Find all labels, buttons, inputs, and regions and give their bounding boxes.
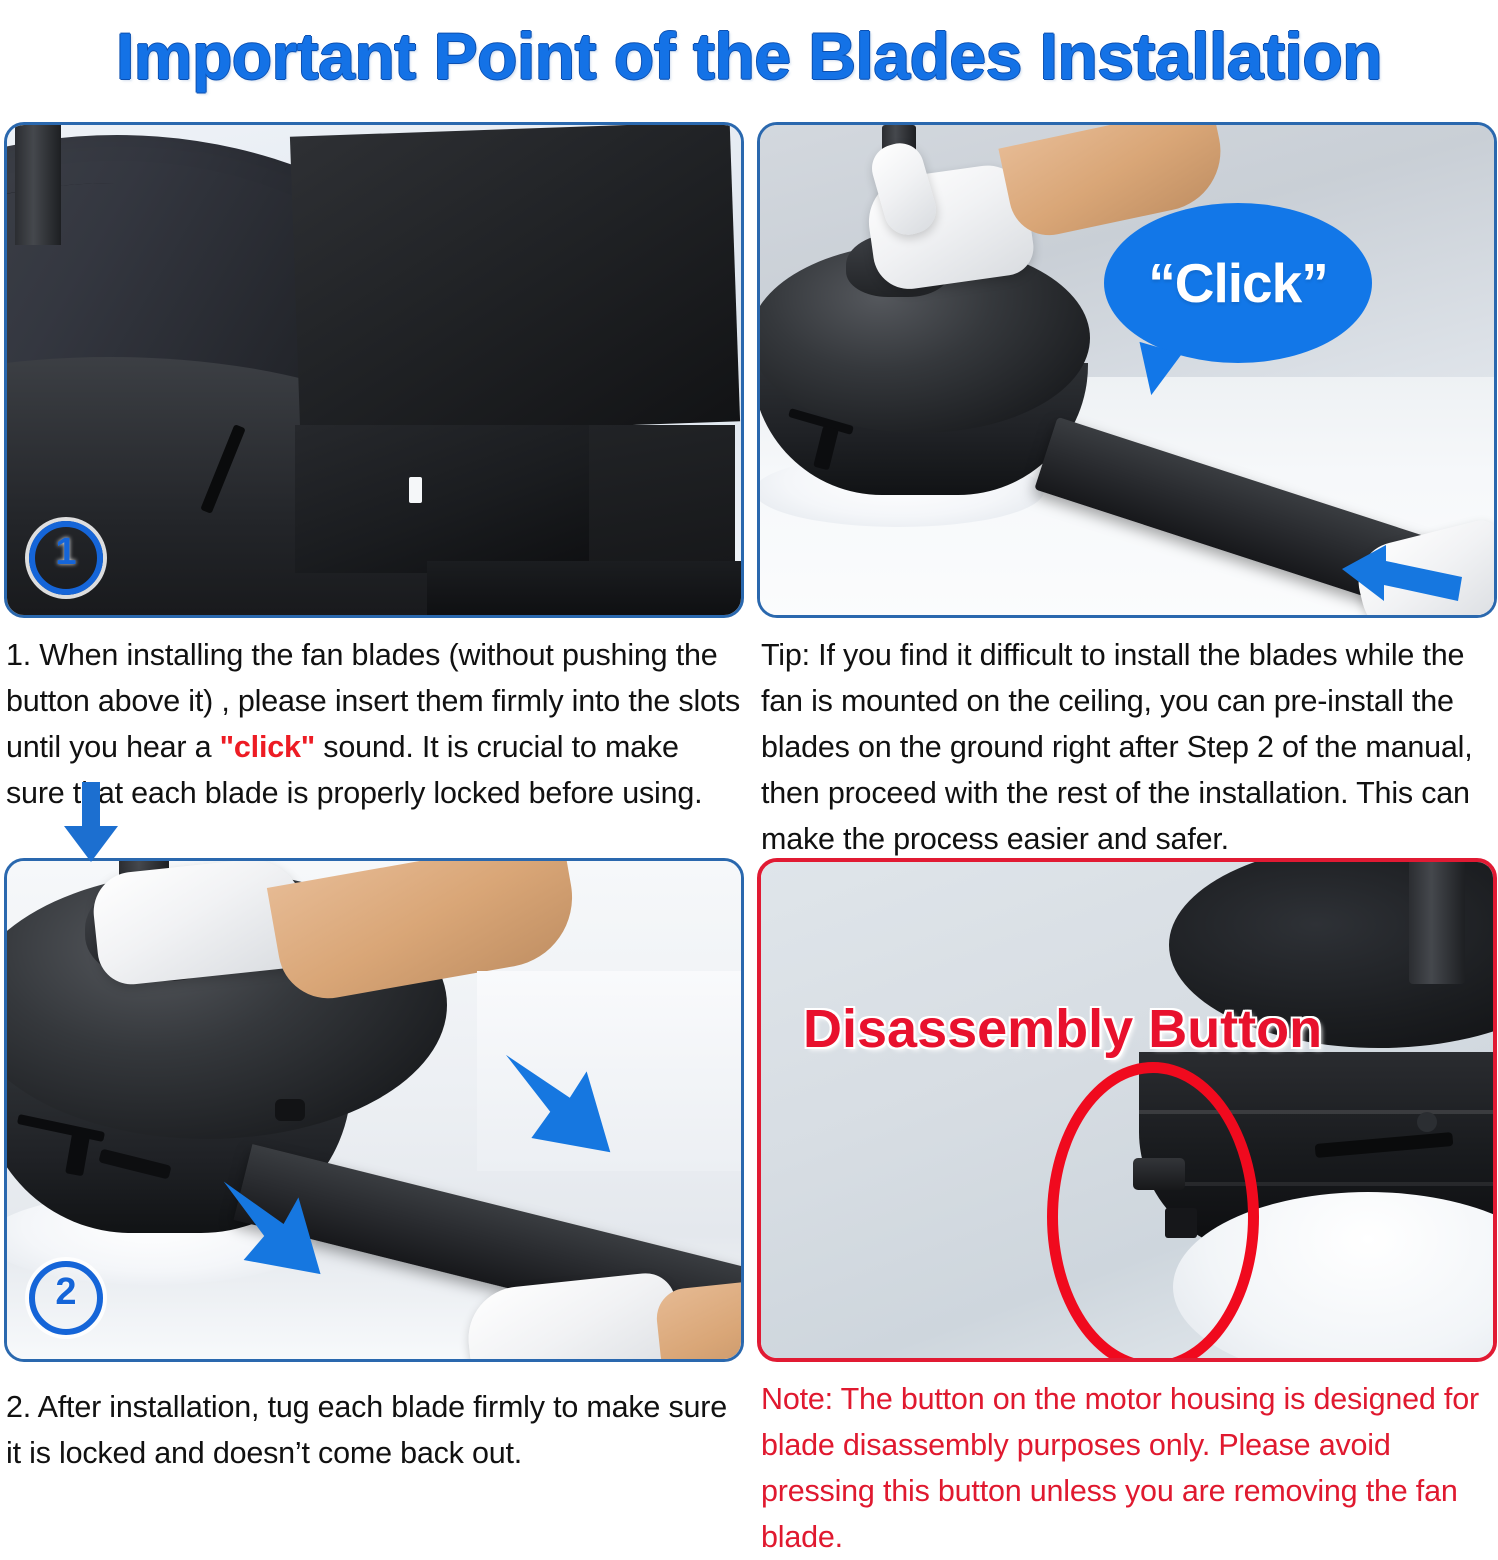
pull-arrow-icon-lower [213,1179,335,1279]
panel-insert-blade: 1 [4,122,744,618]
step-badge-2: 2 [29,1261,103,1335]
table-edge [427,561,741,615]
page-title-bar: Important Point of the Blades Installati… [0,0,1498,112]
click-bubble-label: “Click” [1148,251,1327,315]
mounting-rod [1409,862,1465,984]
fan-blade [290,125,740,437]
panel-click-confirm: “Click” [757,122,1497,618]
panel-insert-blade-photo [7,125,741,615]
push-arrow-icon [1338,543,1468,615]
step-badge-1: 1 [29,521,103,595]
caption-step-2: 2. After installation, tug each blade fi… [6,1384,744,1476]
panel-click-confirm-photo [760,125,1494,615]
disassembly-highlight-circle [1047,1062,1259,1358]
caption-note: Note: The button on the motor housing is… [761,1376,1497,1560]
page-title: Important Point of the Blades Installati… [116,23,1382,89]
mounting-rod [15,125,61,245]
panel-tug-blade-photo [7,861,741,1359]
click-speech-bubble: “Click” [1104,203,1372,363]
housing-nub [275,1099,305,1121]
panel-disassembly-button-photo [761,862,1493,1358]
pull-arrow-icon-upper [495,1051,629,1159]
caption-tip: Tip: If you find it difficult to install… [761,632,1497,862]
caption-step-1-click: "click" [220,730,315,764]
blade-lock-hole [409,477,422,503]
down-arrow-icon [62,782,120,864]
disassembly-button-label: Disassembly Button [803,998,1322,1060]
fan-blade-shoulder [295,425,595,573]
panel-tug-blade: 2 [4,858,744,1362]
housing-screw [1417,1112,1437,1132]
panel-disassembly-button: Disassembly Button [757,858,1497,1362]
